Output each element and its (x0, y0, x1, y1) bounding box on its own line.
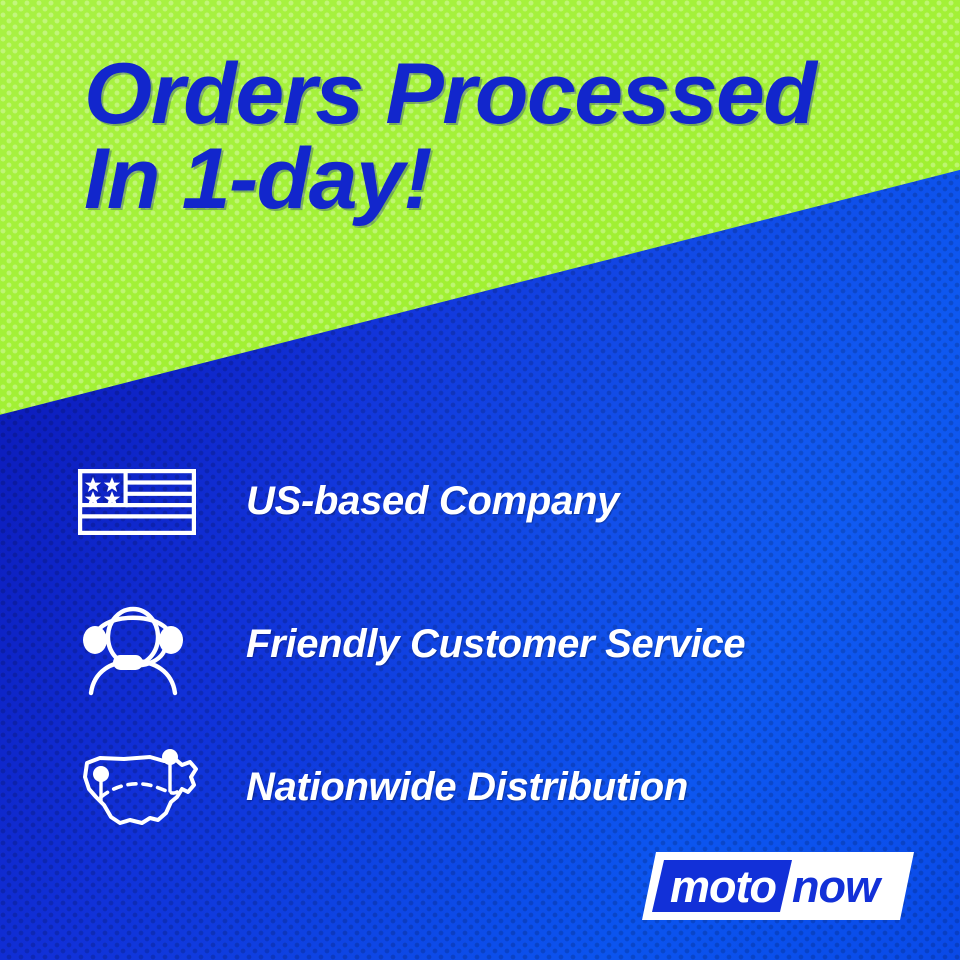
logo-word-now: now (792, 861, 883, 912)
headset-support-icon (78, 597, 202, 693)
feature-label-customer-service: Friendly Customer Service (246, 622, 745, 667)
promo-graphic: Orders Processed In 1-day! (0, 0, 960, 960)
feature-list: US-based Company (0, 430, 960, 859)
feature-label-us-based: US-based Company (246, 479, 619, 524)
logo-word-moto: moto (670, 861, 776, 912)
us-flag-icon (78, 454, 202, 550)
feature-label-nationwide: Nationwide Distribution (246, 765, 688, 810)
headline: Orders Processed In 1-day! (84, 52, 941, 222)
feature-item-nationwide: Nationwide Distribution (0, 716, 960, 859)
motonow-logo[interactable]: moto now (640, 850, 916, 922)
us-map-pins-icon (78, 740, 202, 836)
feature-item-customer-service: Friendly Customer Service (0, 573, 960, 716)
feature-item-us-based: US-based Company (0, 430, 960, 573)
